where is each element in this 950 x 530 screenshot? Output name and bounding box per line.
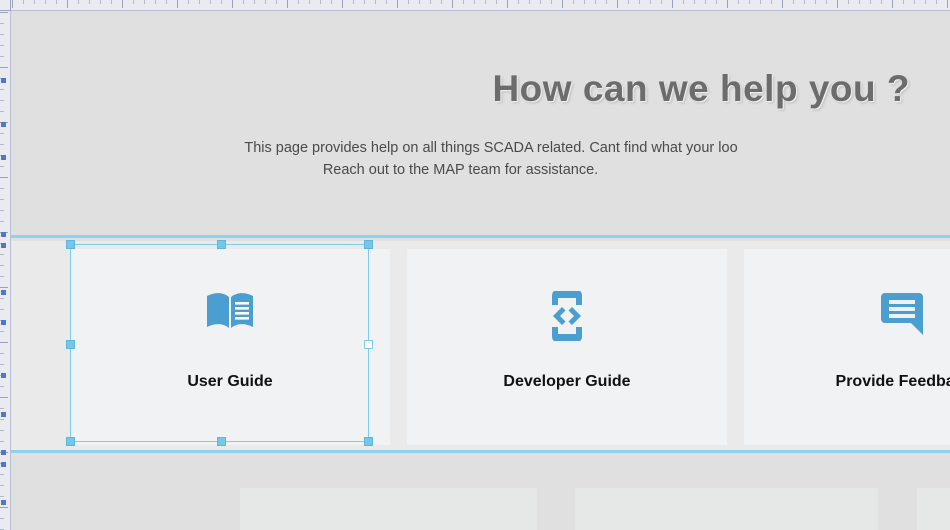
ruler-tick xyxy=(0,111,4,112)
ruler-tick xyxy=(0,166,4,167)
ruler-tick xyxy=(892,0,893,8)
ruler-tick xyxy=(0,309,4,310)
ruler-tick xyxy=(408,0,409,4)
secondary-card[interactable] xyxy=(240,488,537,530)
ruler-tick xyxy=(0,12,8,13)
ruler-tick xyxy=(298,0,299,4)
ruler-tick xyxy=(0,287,8,288)
ruler-tick xyxy=(210,0,211,4)
ruler-tick xyxy=(0,430,4,431)
ruler-tick xyxy=(353,0,354,4)
card-developer-guide[interactable]: Developer Guide xyxy=(407,249,727,445)
ruler-tick xyxy=(0,298,4,299)
ruler-tick xyxy=(0,100,4,101)
ruler-tick xyxy=(485,0,486,4)
ruler-tick xyxy=(0,67,8,68)
ruler-tick xyxy=(0,485,4,486)
ruler-tick xyxy=(188,0,189,4)
ruler-tick xyxy=(331,0,332,4)
ruler-tick xyxy=(0,408,4,409)
ruler-guide-marker[interactable] xyxy=(1,412,6,417)
ruler-tick xyxy=(672,0,673,8)
ruler-tick xyxy=(507,0,508,8)
ruler-guide-marker[interactable] xyxy=(1,320,6,325)
ruler-tick xyxy=(177,0,178,8)
ruler-tick xyxy=(0,177,8,178)
ruler-origin-corner[interactable] xyxy=(0,0,11,11)
ruler-guide-marker[interactable] xyxy=(1,243,6,248)
ruler-tick xyxy=(0,144,4,145)
ruler-tick xyxy=(0,386,4,387)
ruler-guide-marker[interactable] xyxy=(1,78,6,83)
ruler-tick xyxy=(342,0,343,8)
ruler-tick xyxy=(936,0,937,4)
ruler-tick xyxy=(463,0,464,4)
ruler-tick xyxy=(320,0,321,4)
ruler-tick xyxy=(683,0,684,4)
ruler-tick xyxy=(199,0,200,4)
card-user-guide[interactable]: User Guide xyxy=(70,249,390,445)
ruler-tick xyxy=(397,0,398,8)
ruler-tick xyxy=(694,0,695,4)
page-title: How can we help you ? xyxy=(11,68,910,110)
ruler-tick xyxy=(716,0,717,4)
ruler-tick xyxy=(0,23,4,24)
card-label: User Guide xyxy=(70,373,390,391)
ruler-tick xyxy=(518,0,519,4)
help-cards-section[interactable]: User Guide Developer Guide xyxy=(11,241,950,453)
ruler-tick xyxy=(0,89,4,90)
ruler-guide-marker[interactable] xyxy=(1,122,6,127)
ruler-guide-marker[interactable] xyxy=(1,290,6,295)
design-canvas[interactable]: How can we help you ? This page provides… xyxy=(11,11,950,530)
ruler-tick xyxy=(826,0,827,4)
editor-canvas-root: How can we help you ? This page provides… xyxy=(0,0,950,530)
ruler-tick xyxy=(0,397,8,398)
mobile-code-icon xyxy=(407,291,727,347)
comment-bubble-icon xyxy=(744,291,950,347)
ruler-tick xyxy=(243,0,244,4)
ruler-tick xyxy=(914,0,915,4)
ruler-tick xyxy=(67,0,68,8)
ruler-guide-marker[interactable] xyxy=(1,450,6,455)
ruler-tick xyxy=(584,0,585,4)
ruler-tick xyxy=(782,0,783,8)
ruler-tick xyxy=(881,0,882,4)
ruler-tick xyxy=(474,0,475,4)
ruler-tick xyxy=(661,0,662,4)
secondary-card[interactable] xyxy=(575,488,878,530)
ruler-tick xyxy=(0,188,4,189)
ruler-tick xyxy=(276,0,277,4)
ruler-tick xyxy=(0,276,4,277)
ruler-tick xyxy=(45,0,46,4)
ruler-guide-marker[interactable] xyxy=(1,232,6,237)
ruler-tick xyxy=(749,0,750,4)
ruler-tick xyxy=(529,0,530,4)
ruler-tick xyxy=(573,0,574,4)
ruler-tick xyxy=(562,0,563,8)
ruler-tick xyxy=(540,0,541,4)
ruler-tick xyxy=(815,0,816,4)
ruler-guide-marker[interactable] xyxy=(1,155,6,160)
open-book-icon xyxy=(70,291,390,347)
ruler-tick xyxy=(859,0,860,4)
ruler-guide-marker[interactable] xyxy=(1,500,6,505)
ruler-tick xyxy=(617,0,618,8)
ruler-tick xyxy=(23,0,24,4)
ruler-tick xyxy=(0,507,8,508)
card-provide-feedback[interactable]: Provide Feedback xyxy=(744,249,950,445)
ruler-tick xyxy=(870,0,871,4)
ruler-tick xyxy=(221,0,222,4)
card-label: Developer Guide xyxy=(407,373,727,391)
ruler-tick xyxy=(0,364,4,365)
ruler-guide-marker[interactable] xyxy=(1,373,6,378)
hero-subtitle-line-1: This page provides help on all things SC… xyxy=(11,137,950,159)
ruler-tick xyxy=(265,0,266,4)
ruler-tick xyxy=(771,0,772,4)
ruler-tick xyxy=(232,0,233,8)
ruler-tick xyxy=(0,518,4,519)
ruler-tick xyxy=(947,0,948,8)
hero-subtitle-line-2: Reach out to the MAP team for assistance… xyxy=(11,159,910,181)
horizontal-ruler[interactable] xyxy=(0,0,950,11)
ruler-tick xyxy=(0,353,4,354)
ruler-tick xyxy=(133,0,134,4)
ruler-tick xyxy=(727,0,728,8)
hero-section[interactable]: How can we help you ? This page provides… xyxy=(11,11,950,238)
secondary-section[interactable] xyxy=(11,456,950,530)
ruler-tick xyxy=(0,133,4,134)
ruler-tick xyxy=(551,0,552,4)
ruler-tick xyxy=(0,474,4,475)
ruler-tick xyxy=(0,199,4,200)
ruler-tick xyxy=(0,56,4,57)
ruler-tick xyxy=(0,441,4,442)
ruler-tick xyxy=(122,0,123,8)
ruler-tick xyxy=(0,221,4,222)
ruler-tick xyxy=(0,342,8,343)
ruler-tick xyxy=(155,0,156,4)
ruler-tick xyxy=(705,0,706,4)
ruler-tick xyxy=(837,0,838,8)
vertical-ruler[interactable] xyxy=(0,0,11,530)
ruler-tick xyxy=(441,0,442,4)
ruler-tick xyxy=(760,0,761,4)
ruler-tick xyxy=(925,0,926,4)
ruler-tick xyxy=(309,0,310,4)
ruler-guide-marker[interactable] xyxy=(1,462,6,467)
ruler-tick xyxy=(254,0,255,4)
card-label: Provide Feedback xyxy=(744,373,950,391)
ruler-tick xyxy=(0,331,4,332)
ruler-tick xyxy=(166,0,167,4)
ruler-tick xyxy=(0,34,4,35)
ruler-tick xyxy=(848,0,849,4)
ruler-tick xyxy=(0,265,4,266)
ruler-tick xyxy=(496,0,497,4)
ruler-tick xyxy=(0,45,4,46)
ruler-tick xyxy=(595,0,596,4)
ruler-tick xyxy=(628,0,629,4)
ruler-tick xyxy=(738,0,739,4)
ruler-tick xyxy=(12,0,13,8)
ruler-tick xyxy=(903,0,904,4)
ruler-tick xyxy=(650,0,651,4)
ruler-tick xyxy=(386,0,387,4)
ruler-tick xyxy=(375,0,376,4)
ruler-tick xyxy=(804,0,805,4)
ruler-tick xyxy=(0,496,4,497)
secondary-card[interactable] xyxy=(917,488,950,530)
ruler-tick xyxy=(0,419,4,420)
ruler-tick xyxy=(34,0,35,4)
ruler-tick xyxy=(606,0,607,4)
ruler-tick xyxy=(364,0,365,4)
ruler-tick xyxy=(0,210,4,211)
ruler-tick xyxy=(639,0,640,4)
ruler-tick xyxy=(111,0,112,4)
ruler-tick xyxy=(430,0,431,4)
ruler-tick xyxy=(56,0,57,4)
ruler-tick xyxy=(793,0,794,4)
ruler-tick xyxy=(89,0,90,4)
ruler-tick xyxy=(78,0,79,4)
ruler-tick xyxy=(0,254,4,255)
ruler-tick xyxy=(419,0,420,4)
ruler-tick xyxy=(287,0,288,8)
ruler-tick xyxy=(100,0,101,4)
ruler-tick xyxy=(452,0,453,8)
ruler-tick xyxy=(144,0,145,4)
